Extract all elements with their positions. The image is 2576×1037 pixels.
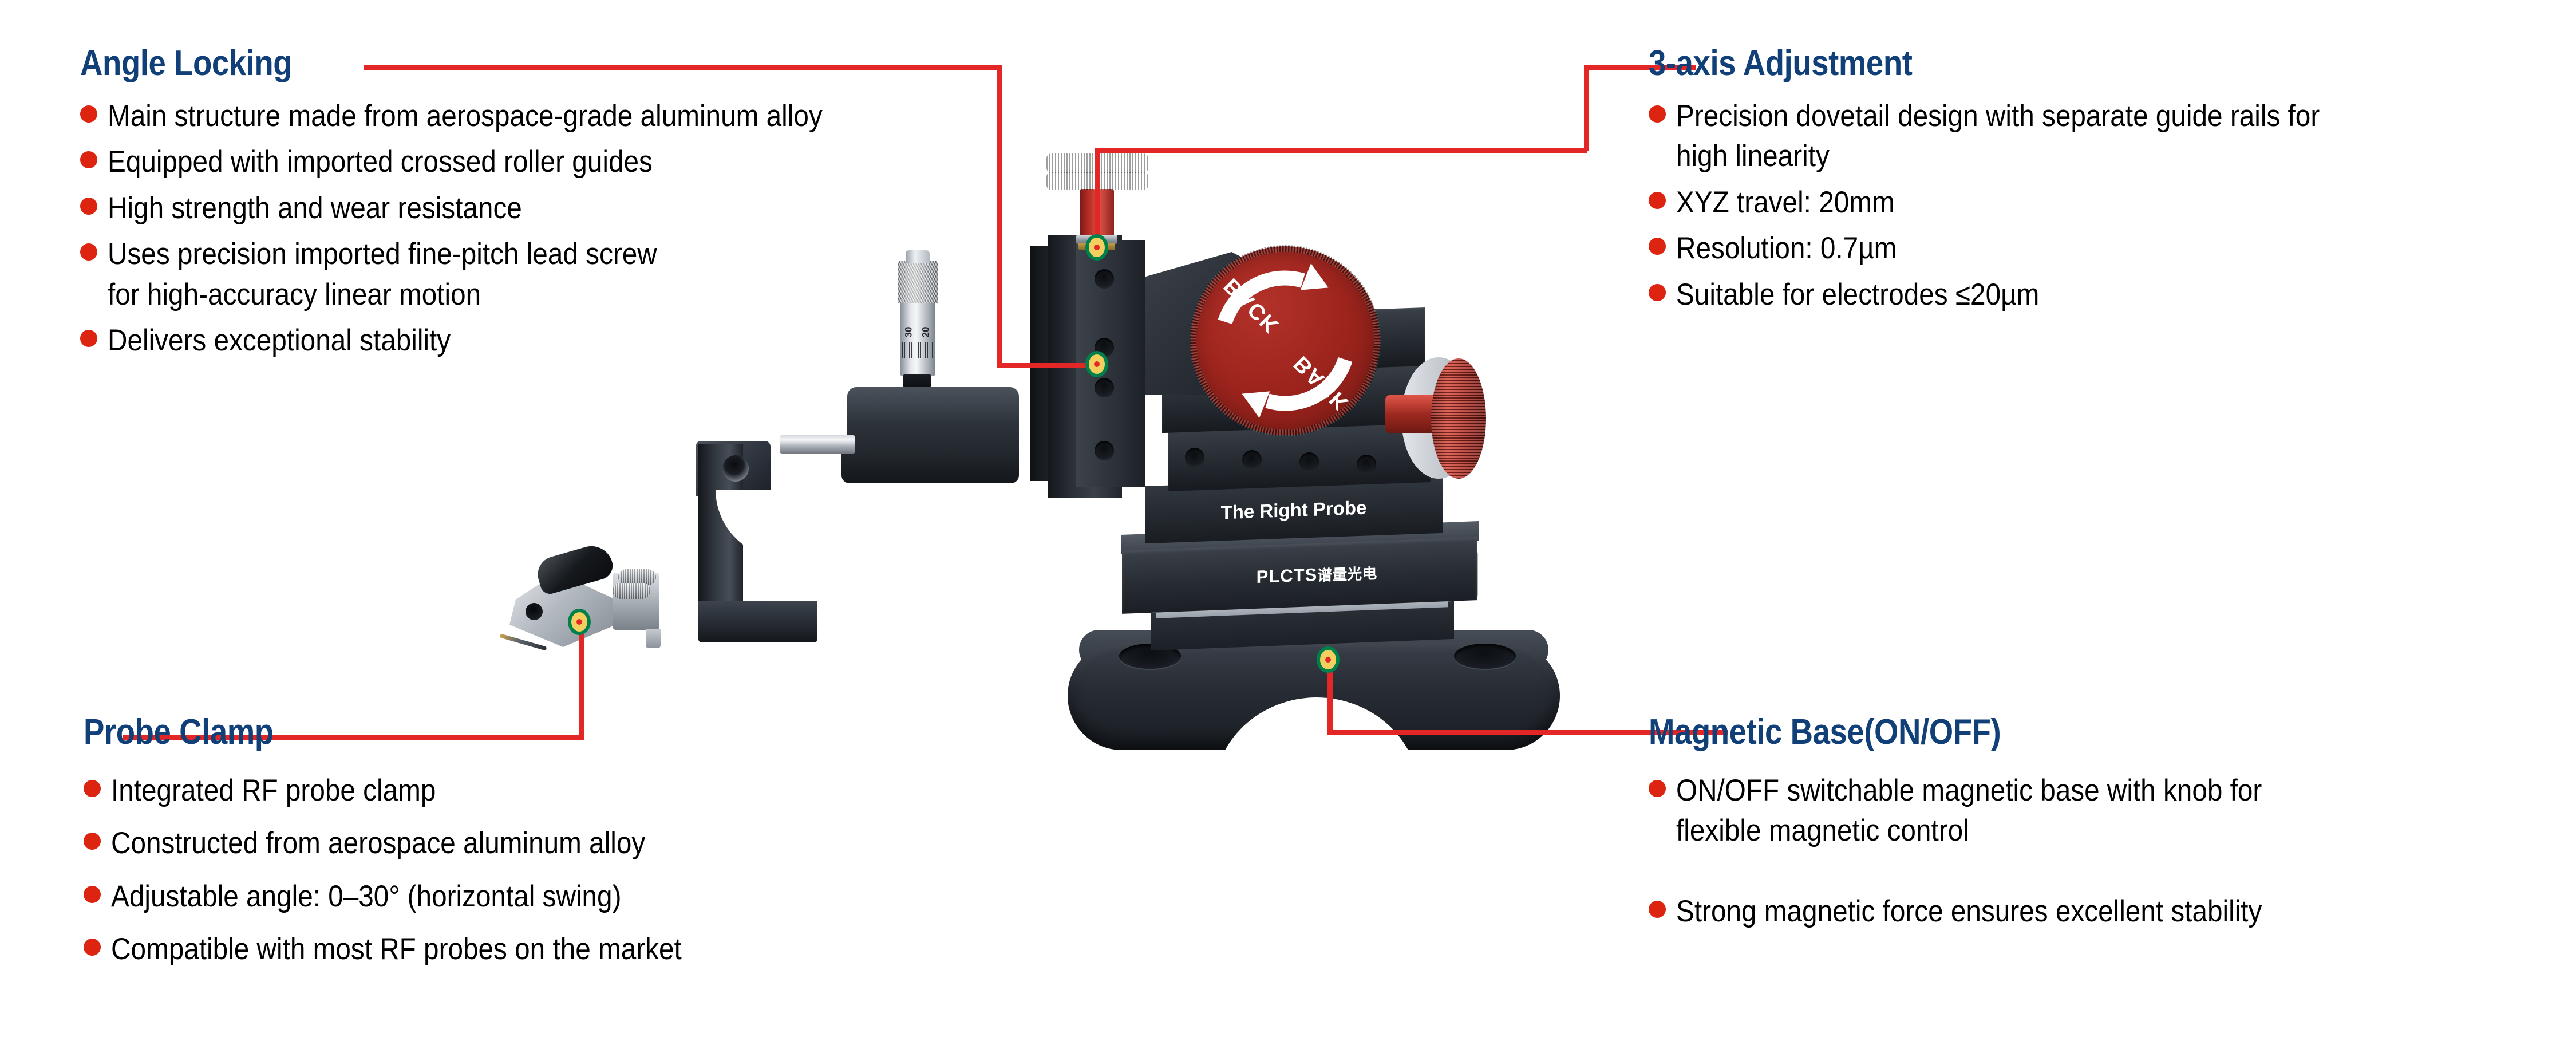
micrometer-mount-shadow bbox=[841, 452, 1019, 483]
bullet-text: Strong magnetic force ensures excellent … bbox=[1676, 892, 2262, 932]
micrometer-foot bbox=[903, 374, 931, 387]
x-axis-adjust-knob[interactable] bbox=[1431, 358, 1486, 479]
list-item: Suitable for electrodes ≤20µm bbox=[1649, 275, 2565, 315]
stage-screw-hole bbox=[1357, 455, 1376, 474]
bullet-text: Compatible with most RF probes on the ma… bbox=[111, 929, 682, 969]
callout-title-magnetic-base: Magnetic Base(ON/OFF) bbox=[1649, 715, 2455, 750]
bullet-dot-icon bbox=[1649, 192, 1666, 209]
bullet-dot-icon bbox=[1649, 901, 1666, 918]
stage-screw-hole bbox=[1299, 452, 1319, 472]
callout-bullets-probe-clamp: Integrated RF probe clamp Constructed fr… bbox=[84, 771, 1057, 970]
bullet-text: Uses precision imported fine-pitch lead … bbox=[108, 234, 657, 315]
callout-marker-angle-locking bbox=[1085, 351, 1108, 377]
list-item: Adjustable angle: 0–30° (horizontal swin… bbox=[84, 877, 1057, 917]
column-screw-hole bbox=[1095, 441, 1114, 460]
swing-arm-pivot-screw[interactable] bbox=[722, 455, 749, 482]
brand-label-chinese: 谱量光电 bbox=[1317, 565, 1377, 584]
bullet-dot-icon bbox=[84, 833, 101, 850]
bullet-text: Integrated RF probe clamp bbox=[111, 771, 436, 811]
bullet-text: XYZ travel: 20mm bbox=[1676, 183, 1895, 223]
bullet-dot-icon bbox=[80, 151, 97, 168]
callout-angle-locking: Angle Locking Main structure made from a… bbox=[80, 46, 1088, 367]
poster-canvas: PLCTS谱量光电 The Right Probe bbox=[0, 0, 2576, 1037]
probe-clamp-hole bbox=[526, 603, 543, 620]
base-mounting-hole-right bbox=[1454, 644, 1516, 669]
list-item: Compatible with most RF probes on the ma… bbox=[84, 929, 1057, 969]
bullet-text: High strength and wear resistance bbox=[108, 188, 522, 228]
bullet-dot-icon bbox=[80, 198, 97, 215]
bullet-text: ON/OFF switchable magnetic base with kno… bbox=[1676, 771, 2262, 851]
bullet-text: Adjustable angle: 0–30° (horizontal swin… bbox=[111, 877, 621, 917]
callout-marker-probe-clamp bbox=[568, 609, 591, 635]
horizontal-swing-shaft bbox=[780, 435, 855, 454]
leader-line-three-axis-long bbox=[1095, 148, 1587, 153]
list-item: Constructed from aerospace aluminum allo… bbox=[84, 823, 1057, 863]
stage-screw-hole bbox=[1185, 448, 1204, 467]
back-dial-arrow-icon bbox=[1191, 246, 1380, 435]
bullet-dot-icon bbox=[84, 886, 101, 903]
callout-marker-magnetic-base bbox=[1317, 646, 1340, 673]
list-item: Precision dovetail design with separate … bbox=[1649, 96, 2565, 177]
callout-bullets-magnetic-base: ON/OFF switchable magnetic base with kno… bbox=[1649, 771, 2565, 932]
bullet-dot-icon bbox=[80, 105, 97, 123]
leader-line-three-axis-vertical bbox=[1095, 148, 1100, 246]
callout-probe-clamp: Probe Clamp Integrated RF probe clamp Co… bbox=[84, 715, 1057, 976]
list-item: Equipped with imported crossed roller gu… bbox=[80, 142, 1088, 182]
callout-title-angle-locking: Angle Locking bbox=[80, 46, 967, 81]
list-item: High strength and wear resistance bbox=[80, 188, 1088, 228]
list-item: Uses precision imported fine-pitch lead … bbox=[80, 234, 1088, 315]
brand-label-latin: PLCTS bbox=[1257, 565, 1318, 587]
callout-bullets-three-axis: Precision dovetail design with separate … bbox=[1649, 96, 2565, 315]
callout-bullets-angle-locking: Main structure made from aerospace-grade… bbox=[80, 96, 1088, 361]
callout-title-three-axis: 3-axis Adjustment bbox=[1649, 46, 2455, 81]
probe-clamp-screw-lower[interactable] bbox=[613, 583, 650, 599]
list-item: Resolution: 0.7µm bbox=[1649, 228, 2565, 269]
column-screw-hole bbox=[1095, 378, 1114, 397]
list-item: Integrated RF probe clamp bbox=[84, 771, 1057, 811]
callout-title-probe-clamp: Probe Clamp bbox=[84, 715, 940, 750]
callout-magnetic-base: Magnetic Base(ON/OFF) ON/OFF switchable … bbox=[1649, 715, 2565, 937]
bullet-text: Delivers exceptional stability bbox=[108, 321, 451, 361]
column-screw-hole bbox=[1095, 269, 1114, 289]
callout-marker-three-axis bbox=[1085, 234, 1108, 261]
bullet-dot-icon bbox=[80, 243, 97, 261]
stage-screw-hole bbox=[1242, 450, 1262, 470]
bullet-dot-icon bbox=[1649, 238, 1666, 255]
list-item: Strong magnetic force ensures excellent … bbox=[1649, 892, 2565, 932]
bullet-dot-icon bbox=[1649, 284, 1666, 301]
list-item: XYZ travel: 20mm bbox=[1649, 183, 2565, 223]
probe-clamp-stud bbox=[646, 629, 661, 648]
bullet-text: Constructed from aerospace aluminum allo… bbox=[111, 823, 645, 863]
bullet-dot-icon bbox=[84, 780, 101, 797]
bullet-dot-icon bbox=[80, 330, 97, 347]
bullet-text: Main structure made from aerospace-grade… bbox=[108, 96, 823, 136]
bullet-dot-icon bbox=[1649, 780, 1666, 797]
list-item: ON/OFF switchable magnetic base with kno… bbox=[1649, 771, 2565, 851]
bullet-dot-icon bbox=[84, 939, 101, 956]
leader-line-three-axis-down bbox=[1584, 65, 1589, 151]
bullet-dot-icon bbox=[1649, 105, 1666, 123]
list-item: Main structure made from aerospace-grade… bbox=[80, 96, 1088, 136]
callout-three-axis-adjustment: 3-axis Adjustment Precision dovetail des… bbox=[1649, 46, 2565, 321]
bullet-text: Suitable for electrodes ≤20µm bbox=[1676, 275, 2039, 315]
swing-arm-horizontal bbox=[698, 601, 817, 642]
bullet-text: Equipped with imported crossed roller gu… bbox=[108, 142, 653, 182]
bullet-text: Precision dovetail design with separate … bbox=[1676, 96, 2320, 177]
bullet-text: Resolution: 0.7µm bbox=[1676, 228, 1897, 269]
list-item: Delivers exceptional stability bbox=[80, 321, 1088, 361]
